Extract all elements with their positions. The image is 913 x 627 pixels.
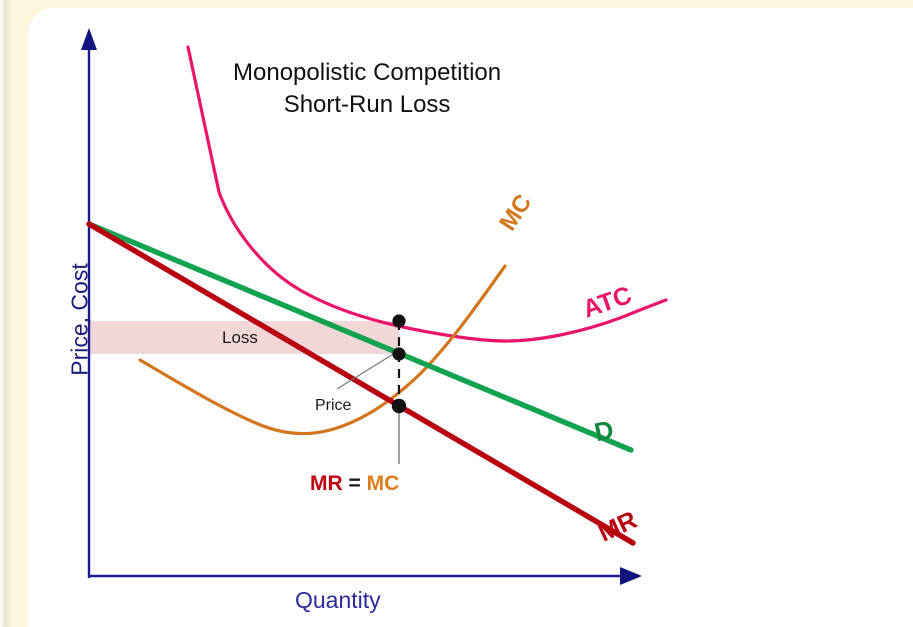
chart-title: Monopolistic Competition Short-Run Loss bbox=[233, 57, 501, 120]
equilibrium-equals-text: = bbox=[343, 472, 367, 495]
equilibrium-mr-text: MR bbox=[310, 472, 343, 495]
x-axis-arrow-icon bbox=[620, 567, 642, 585]
loss-area-label: Loss bbox=[222, 329, 258, 346]
price-callout-label: Price bbox=[315, 398, 351, 414]
chart-title-line-1: Monopolistic Competition bbox=[233, 57, 501, 89]
equilibrium-condition-label: MR = MC bbox=[310, 473, 399, 494]
marginal-revenue-curve bbox=[89, 224, 633, 543]
atc-point-marker bbox=[392, 314, 405, 327]
x-axis-label: Quantity bbox=[295, 589, 381, 612]
chart-surface: Monopolistic Competition Short-Run Loss … bbox=[0, 0, 913, 627]
y-axis-label: Price, Cost bbox=[69, 235, 92, 405]
y-axis-arrow-icon bbox=[81, 28, 97, 50]
price-point-marker bbox=[392, 347, 405, 360]
equilibrium-mc-text: MC bbox=[367, 472, 400, 495]
chart-page: Monopolistic Competition Short-Run Loss … bbox=[0, 0, 913, 627]
mr-mc-point-marker bbox=[392, 399, 406, 413]
chart-title-line-2: Short-Run Loss bbox=[233, 89, 501, 121]
